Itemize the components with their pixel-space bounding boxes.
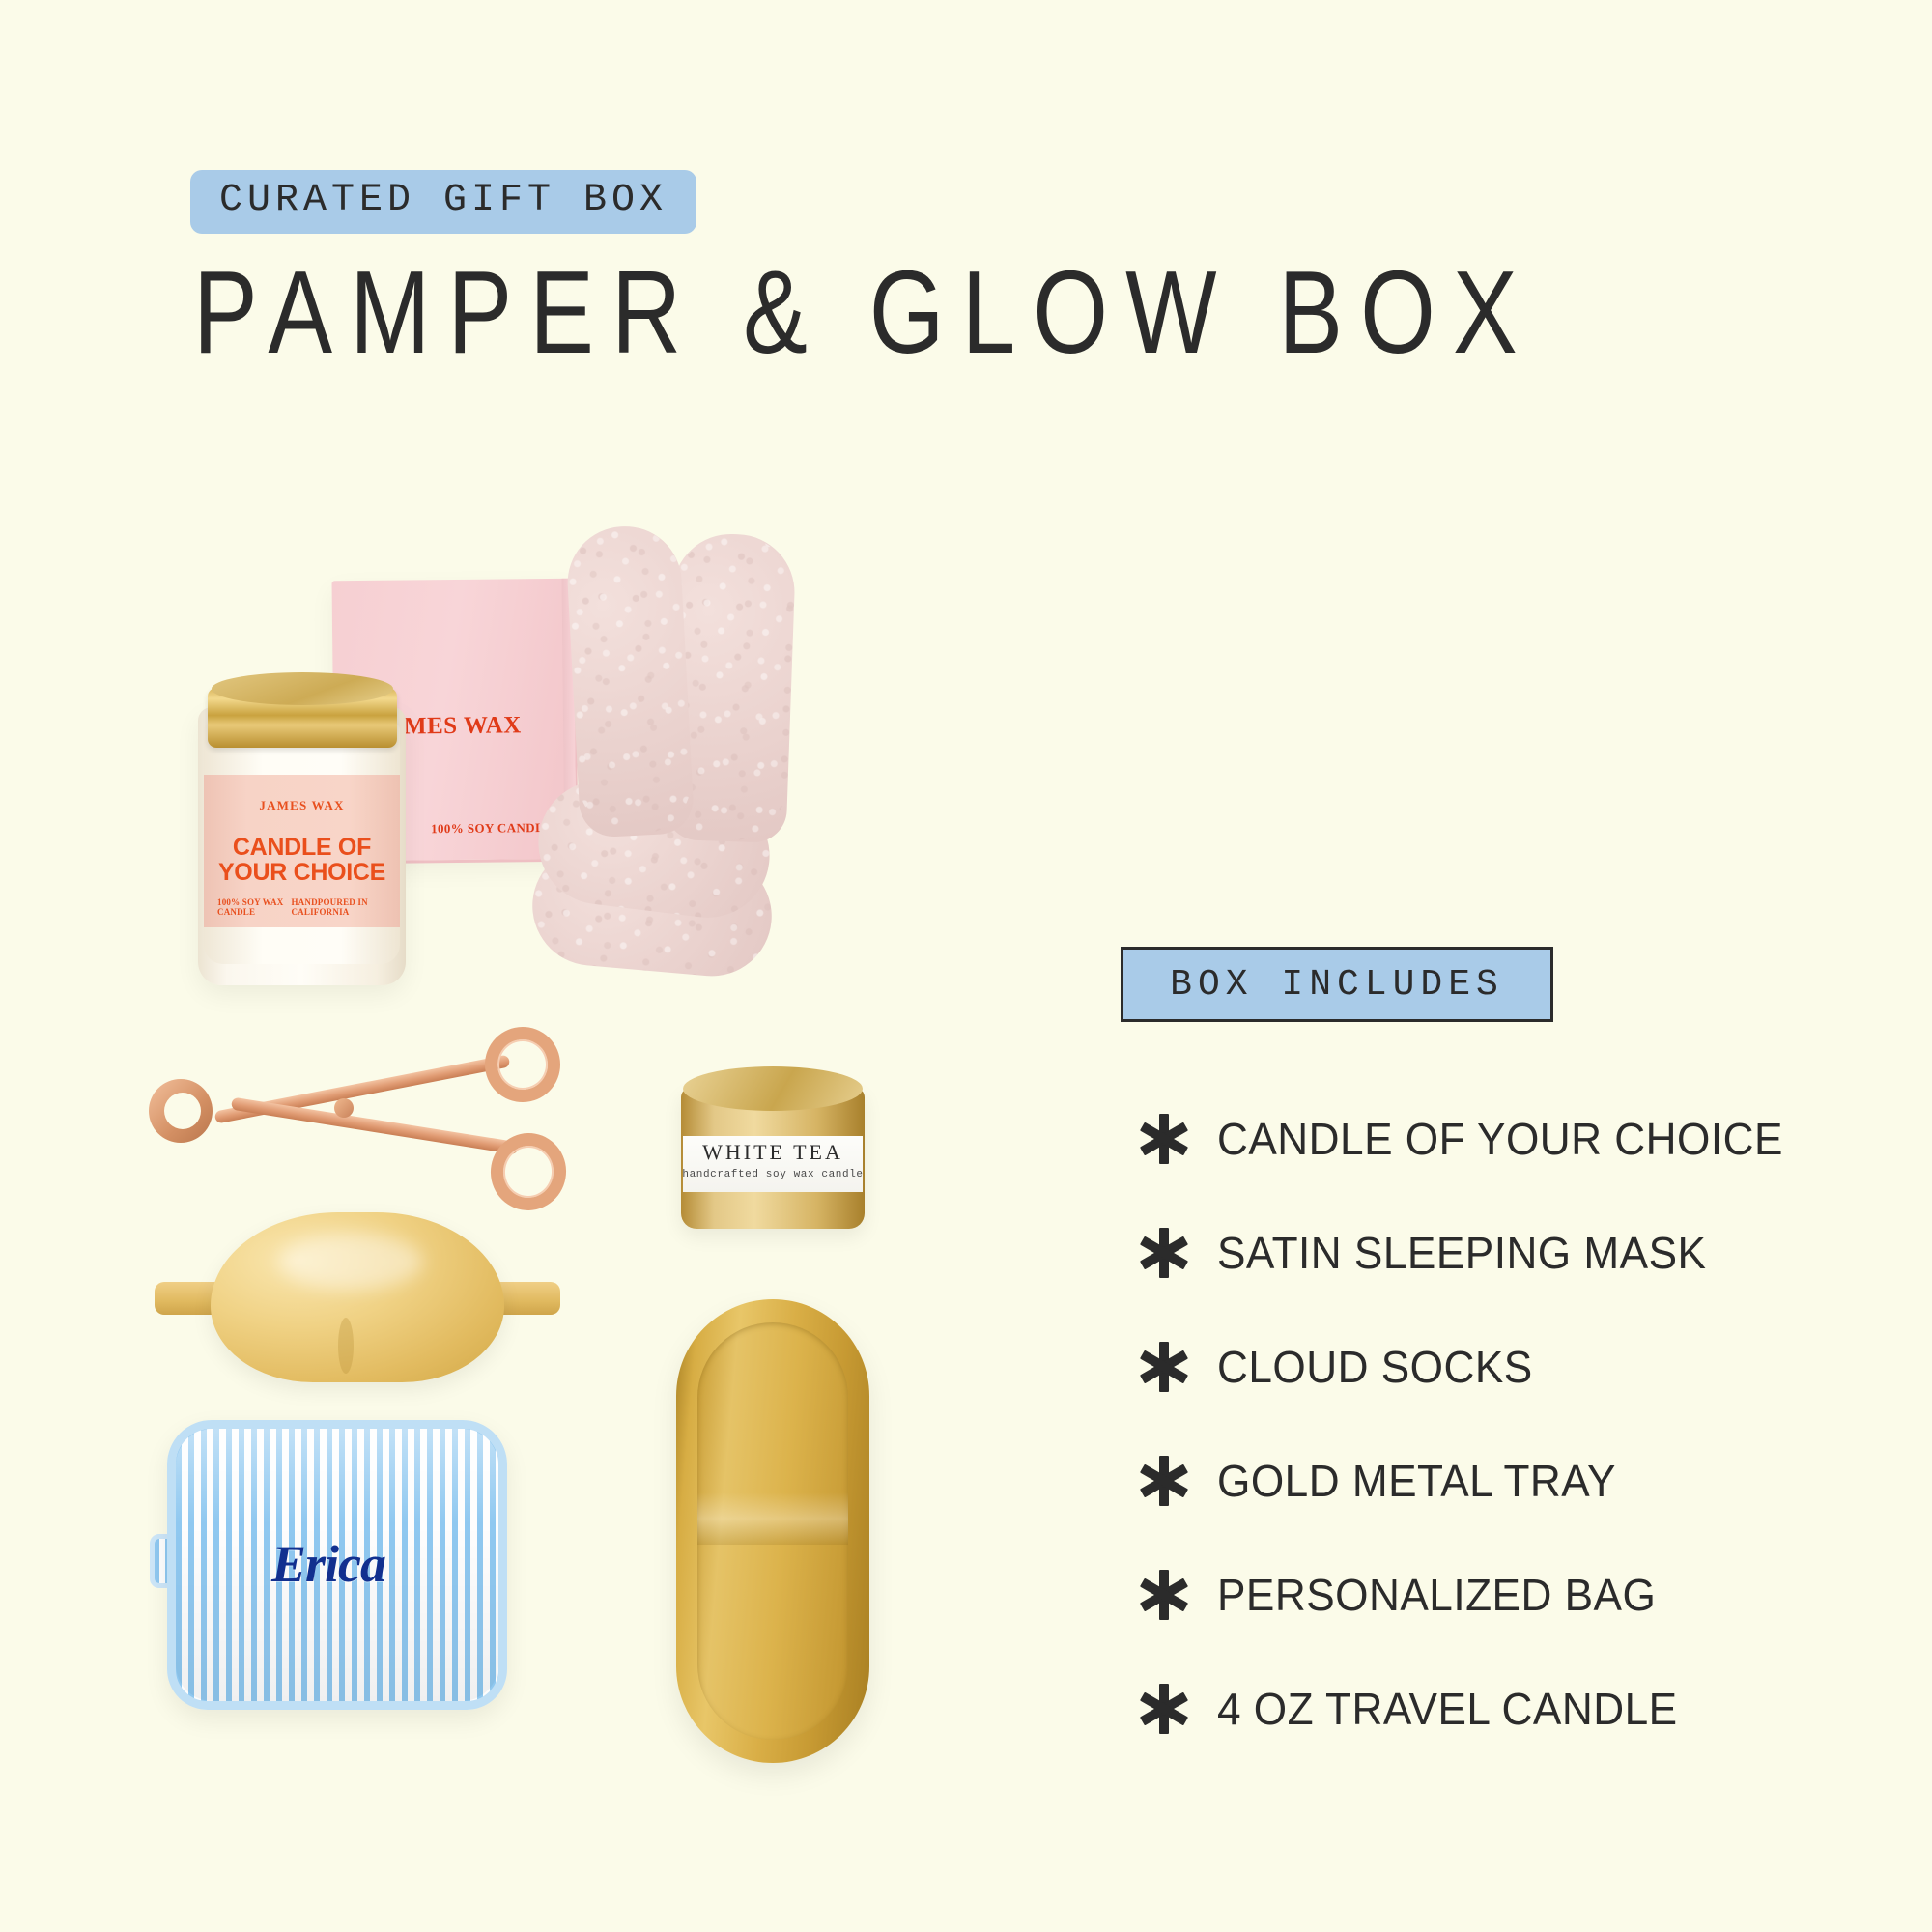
box-includes-list: CANDLE OF YOUR CHOICE SATIN SLEEPING MAS… xyxy=(1111,1082,1903,1766)
asterisk-icon xyxy=(1111,1568,1217,1622)
personalized-striped-bag: Erica xyxy=(150,1420,507,1710)
asterisk-icon xyxy=(1111,1112,1217,1166)
sock-texture xyxy=(565,524,696,838)
list-item-label: CLOUD SOCKS xyxy=(1217,1341,1533,1393)
satin-sleeping-mask xyxy=(155,1212,560,1386)
tin-scent-name: WHITE TEA xyxy=(681,1140,865,1165)
jar-label: JAMES WAX CANDLE OF YOUR CHOICE 100% SOY… xyxy=(204,775,400,927)
list-item-label: 4 OZ TRAVEL CANDLE xyxy=(1217,1683,1678,1735)
jar-footnote-left: 100% SOY WAX CANDLE xyxy=(217,897,291,917)
trimmer-pivot-screw xyxy=(334,1098,354,1118)
mask-highlight xyxy=(278,1234,423,1290)
list-item-label: SATIN SLEEPING MASK xyxy=(1217,1227,1706,1279)
asterisk-icon xyxy=(1111,1226,1217,1280)
list-item: 4 OZ TRAVEL CANDLE xyxy=(1111,1652,1903,1766)
trimmer-ring-upper xyxy=(478,1020,568,1110)
bag-embroidered-name: Erica xyxy=(150,1534,507,1594)
asterisk-icon xyxy=(1111,1454,1217,1508)
jar-label-brand: JAMES WAX xyxy=(259,798,344,813)
list-item: CLOUD SOCKS xyxy=(1111,1310,1903,1424)
jar-footnote-right: HANDPOURED IN CALIFORNIA xyxy=(291,897,386,917)
jar-label-title-line1: CANDLE OF xyxy=(233,834,371,861)
product-collage: JAMES WAX 100% SOY CANDLE JAMES WAX CAND… xyxy=(0,0,1092,1932)
cloud-socks xyxy=(546,526,826,1029)
list-item: CANDLE OF YOUR CHOICE xyxy=(1111,1082,1903,1196)
jar-label-title-line2: YOUR CHOICE xyxy=(218,859,385,886)
gift-box-poster: CURATED GIFT BOX PAMPER & GLOW BOX JAMES… xyxy=(0,0,1932,1932)
list-item: GOLD METAL TRAY xyxy=(1111,1424,1903,1538)
list-item-label: GOLD METAL TRAY xyxy=(1217,1455,1616,1507)
tin-subtitle: handcrafted soy wax candle xyxy=(681,1169,865,1180)
gold-metal-tray xyxy=(676,1299,869,1763)
tray-reflection xyxy=(697,1492,848,1545)
mask-body xyxy=(211,1212,504,1382)
asterisk-icon xyxy=(1111,1340,1217,1394)
list-item: PERSONALIZED BAG xyxy=(1111,1538,1903,1652)
tin-lid xyxy=(683,1066,863,1111)
wick-trimmer xyxy=(145,1019,560,1203)
pink-box-footnote: 100% SOY CANDLE xyxy=(431,820,553,837)
box-includes-badge: BOX INCLUDES xyxy=(1121,947,1553,1022)
jar-label-title: CANDLE OF YOUR CHOICE xyxy=(218,835,385,886)
white-tea-travel-candle: WHITE TEA handcrafted soy wax candle xyxy=(681,1063,865,1229)
asterisk-icon xyxy=(1111,1682,1217,1736)
list-item: SATIN SLEEPING MASK xyxy=(1111,1196,1903,1310)
list-item-label: PERSONALIZED BAG xyxy=(1217,1569,1656,1621)
trimmer-blade-head xyxy=(149,1079,213,1143)
list-item-label: CANDLE OF YOUR CHOICE xyxy=(1217,1113,1783,1165)
jar-gold-lid xyxy=(208,688,397,748)
candle-jar: JAMES WAX CANDLE OF YOUR CHOICE 100% SOY… xyxy=(198,667,406,985)
trimmer-arm-lower xyxy=(231,1097,519,1155)
jar-label-footnotes: 100% SOY WAX CANDLE HANDPOURED IN CALIFO… xyxy=(204,897,400,917)
sock-leg-front xyxy=(565,524,696,838)
